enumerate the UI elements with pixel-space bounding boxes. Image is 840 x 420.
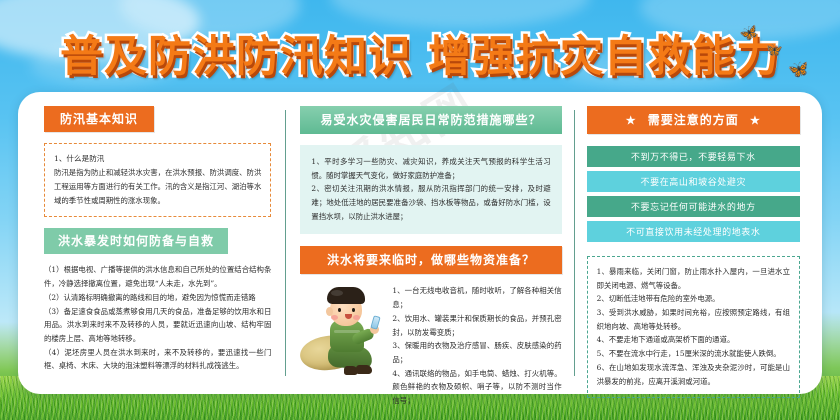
right-note: 1、暴雨来临，关闭门窗，防止雨水扑入屋内，一旦进水立即关闭电源、燃气等设备。 <box>597 265 790 292</box>
soldier-cheek <box>353 315 360 320</box>
middle-section1-header: 易受水灾侵害居民日常防范措施哪些？ <box>300 106 561 134</box>
warning-bar-label: 不要忘记任何可能进水的地方 <box>631 200 756 213</box>
left-section1-header: 防汛基本知识 <box>44 106 154 132</box>
middle-section2-header: 洪水将要来临时，做哪些物资准备？ <box>300 246 561 274</box>
soldier-hair <box>327 287 365 304</box>
warning-bar-label: 不要在高山和坡谷处避灾 <box>641 175 747 188</box>
middle-column: 易受水灾侵害居民日常防范措施哪些？ 1、平时多学习一些防灾、减灾知识，养成关注天… <box>286 92 573 394</box>
middle-section1-paragraph: 1、平时多学习一些防灾、减灾知识，养成关注天气预报的科学生活习惯。随时掌握天气变… <box>311 155 550 182</box>
middle-section2-text: 1、一台无线电收音机，随时收听，了解各种相关信息； 2、饮用水、罐装果汁和保质期… <box>392 282 561 407</box>
warning-bar-label: 不可直接饮用未经处理的地表水 <box>626 225 760 238</box>
right-notes-box: 1、暴雨来临，关闭门窗，防止雨水扑入屋内，一旦进水立即关闭电源、燃气等设备。 2… <box>587 256 800 398</box>
right-header-label: 需要注意的方面 <box>648 113 739 127</box>
middle-section2-paragraph: 4、通讯联络的物品，如手电筒、蜡烛、打火机等。颜色鲜艳的衣物及硕帜、哨子等，以防… <box>392 367 561 408</box>
right-note: 3、受到洪水威胁，如果时间充裕，应按照预定路线，有组织地向坡、高地等处转移。 <box>597 306 790 333</box>
page-title: 普及防洪防汛知识 增强抗灾自救能力 <box>60 22 780 84</box>
left-column: 防汛基本知识 1、什么是防汛 防汛是指为防止和减轻洪水灾害，在洪水预报、防洪调度… <box>18 92 285 394</box>
right-note: 5、不要在流水中行走，15厘米深的流水就能使人跌倒。 <box>597 347 790 361</box>
left-section1-body: 防汛是指为防止和减轻洪水灾害，在洪水预报、防洪调度、防洪工程运用等方面进行的有关… <box>54 166 261 207</box>
left-section1-box: 1、什么是防汛 防汛是指为防止和减轻洪水灾害，在洪水预报、防洪调度、防洪工程运用… <box>44 143 271 217</box>
warning-bar: 不要忘记任何可能进水的地方 <box>587 196 800 217</box>
right-header: ★ 需要注意的方面 ★ <box>587 106 800 134</box>
left-section2-header: 洪水暴发时如何防备与自救 <box>44 228 228 254</box>
warning-bar: 不可直接饮用未经处理的地表水 <box>587 221 800 242</box>
middle-section2-paragraph: 3、保暖用的衣物及治疗感冒、肠疾、皮肤感染的药品； <box>392 339 561 366</box>
middle-section1-paragraph: 2、密切关注汛期的洪水情报，服从防汛指挥部门的统一安排，及时避难；地处低洼地的居… <box>311 182 550 223</box>
poster-title-area: 普及防洪防汛知识 增强抗灾自救能力 <box>0 22 840 84</box>
left-section2-paragraph: （4）泥坯房里人员在洪水到来时，来不及转移的，要迅速找一些门框、桌椅、木床、大块… <box>44 346 271 373</box>
right-note: 6、在山地如发现水流浑急、浑浊及夹杂泥沙时，可能是山洪暴发的前兆，应离开溪涧或河… <box>597 361 790 388</box>
left-section2-paragraph: （1）根据电视、广播等提供的洪水信息和自己所处的位置结合结构条件，冷静选择撤离位… <box>44 263 271 290</box>
warning-bars-list: 不到万不得已，不要轻易下水 不要在高山和坡谷处避灾 不要忘记任何可能进水的地方 … <box>587 146 800 242</box>
columns-container: 防汛基本知识 1、什么是防汛 防汛是指为防止和减轻洪水灾害，在洪水预报、防洪调度… <box>18 92 822 394</box>
warning-bar: 不到万不得已，不要轻易下水 <box>587 146 800 167</box>
middle-section2-paragraph: 1、一台无线电收音机，随时收听，了解各种相关信息； <box>392 284 561 311</box>
middle-section1-box: 1、平时多学习一些防灾、减灾知识，养成关注天气预报的科学生活习惯。随时掌握天气变… <box>300 145 561 234</box>
radio-device-icon <box>371 316 381 330</box>
soldier-with-sandbag-illustration <box>300 282 384 374</box>
butterfly-icon: 🦋 <box>787 61 810 80</box>
right-note: 2、切断低洼地带有危险的室外电源。 <box>597 292 790 306</box>
middle-section2-figure: 1、一台无线电收音机，随时收听，了解各种相关信息； 2、饮用水、罐装果汁和保质期… <box>300 282 561 407</box>
soldier-boot <box>356 365 372 374</box>
star-icon: ★ <box>626 114 637 127</box>
left-section1-item-title: 1、什么是防汛 <box>54 152 261 166</box>
left-section2-paragraph: （3）备足速食食品或蒸煮够食用几天的食品，准备足够的饮用水和日用品。洪水到来时来… <box>44 305 271 346</box>
warning-bar-label: 不到万不得已，不要轻易下水 <box>631 150 756 163</box>
star-icon: ★ <box>750 114 761 127</box>
middle-section2-paragraph: 2、饮用水、罐装果汁和保质期长的食品，并预孔密封，以防发霉变质； <box>392 312 561 339</box>
right-column: ★ 需要注意的方面 ★ 不到万不得已，不要轻易下水 不要在高山和坡谷处避灾 不要… <box>575 92 822 394</box>
right-note: 4、不要走地下通道或高架桥下面的通道。 <box>597 333 790 347</box>
butterfly-icon: 🦋 <box>765 42 784 59</box>
left-section2-paragraph: （2）认清路标明确撤离的路线和目的地，避免因为惊慌而走错路 <box>44 291 271 305</box>
warning-bar: 不要在高山和坡谷处避灾 <box>587 171 800 192</box>
